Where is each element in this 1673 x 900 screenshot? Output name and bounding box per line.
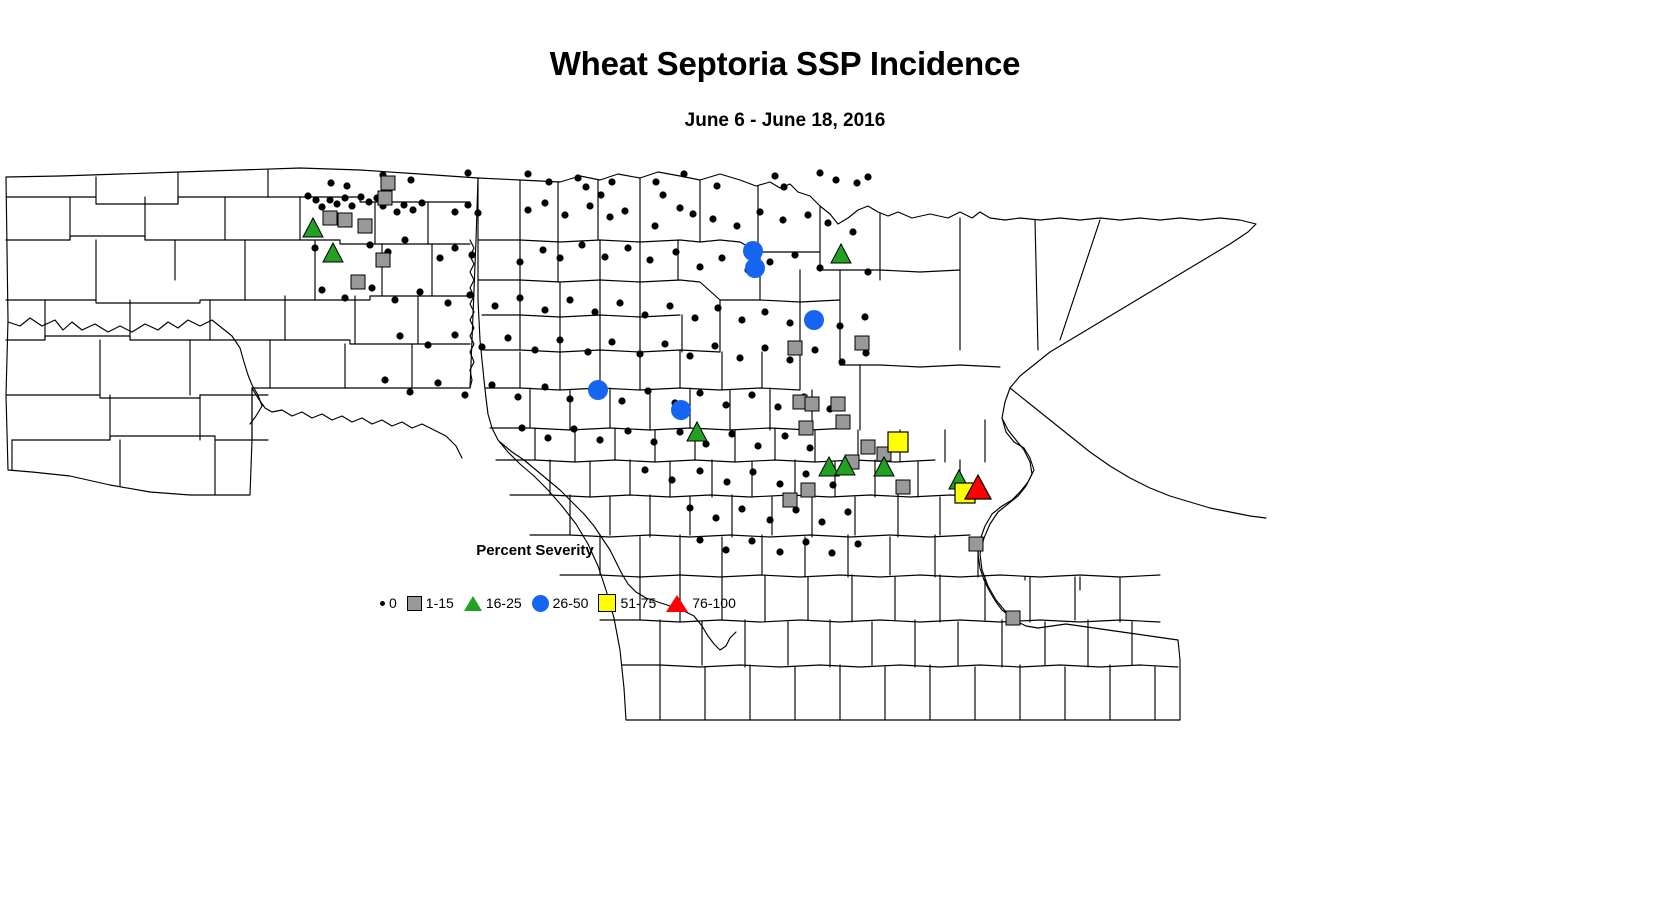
marker-sev-0 <box>818 518 825 525</box>
marker-sev-0 <box>624 427 631 434</box>
marker-sev-0 <box>504 334 511 341</box>
marker-sev-0 <box>849 228 856 235</box>
marker-sev-0 <box>424 341 431 348</box>
marker-sev-0 <box>488 381 495 388</box>
map-page: Wheat Septoria SSP Incidence June 6 - Ju… <box>0 0 1673 900</box>
marker-sev-0 <box>786 356 793 363</box>
legend-item-label: 76-100 <box>692 595 736 611</box>
marker-sev-0 <box>368 284 375 291</box>
marker-sev-0 <box>738 505 745 512</box>
marker-sev-51-75 <box>888 432 908 452</box>
marker-sev-0 <box>436 254 443 261</box>
mn-nline-12 <box>840 365 1000 367</box>
marker-sev-0 <box>853 179 860 186</box>
marker-sev-0 <box>566 296 573 303</box>
marker-sev-16-25 <box>323 243 343 262</box>
marker-sev-0 <box>416 288 423 295</box>
marker-sev-0 <box>516 258 523 265</box>
legend-dot-icon <box>380 601 385 606</box>
marker-sev-0 <box>318 286 325 293</box>
marker-sev-0 <box>464 201 471 208</box>
marker-sev-0 <box>680 170 687 177</box>
marker-sev-0 <box>636 350 643 357</box>
marker-sev-0 <box>327 179 334 186</box>
marker-sev-0 <box>478 343 485 350</box>
marker-sev-0 <box>686 352 693 359</box>
legend-item-label: 26-50 <box>553 595 589 611</box>
marker-sev-0 <box>524 170 531 177</box>
marker-sev-0 <box>624 244 631 251</box>
legend-item-label: 0 <box>389 595 397 611</box>
north-dakota-outline <box>6 168 478 495</box>
marker-sev-0 <box>597 191 604 198</box>
marker-sev-0 <box>365 198 372 205</box>
marker-sev-0 <box>318 203 325 210</box>
legend-item-26-50[interactable]: 26-50 <box>532 588 589 618</box>
marker-sev-0 <box>584 348 591 355</box>
marker-sev-0 <box>804 211 811 218</box>
marker-sev-0 <box>754 442 761 449</box>
marker-sev-0 <box>401 236 408 243</box>
marker-sev-1-15 <box>801 483 815 497</box>
marker-sev-0 <box>618 397 625 404</box>
marker-sev-26-50 <box>743 241 763 261</box>
marker-sev-1-15 <box>896 480 910 494</box>
marker-sev-1-15 <box>805 397 819 411</box>
marker-sev-0 <box>838 358 845 365</box>
mn-nline-8 <box>484 350 720 352</box>
mn-vline-10 <box>1035 220 1038 350</box>
marker-sev-0 <box>596 436 603 443</box>
marker-sev-0 <box>400 201 407 208</box>
mn-nline-11 <box>490 428 850 430</box>
marker-sev-0 <box>616 299 623 306</box>
legend-items: 01-1516-2526-5051-7576-100 <box>370 588 770 618</box>
page-subtitle: June 6 - June 18, 2016 <box>0 110 1570 132</box>
marker-sev-0 <box>516 294 523 301</box>
marker-sev-0 <box>641 466 648 473</box>
legend-item-1-15[interactable]: 1-15 <box>407 588 454 618</box>
marker-sev-0 <box>556 254 563 261</box>
marker-sev-1-15 <box>338 213 352 227</box>
marker-sev-1-15 <box>783 493 797 507</box>
marker-sev-0 <box>304 192 311 199</box>
map-container <box>0 140 1330 740</box>
marker-sev-0 <box>348 202 355 209</box>
marker-sev-0 <box>816 264 823 271</box>
marker-sev-0 <box>806 444 813 451</box>
marker-sev-0 <box>545 178 552 185</box>
mn-nline-9 <box>700 282 840 302</box>
marker-sev-0 <box>728 430 735 437</box>
legend-gray-square-icon <box>407 596 422 611</box>
marker-sev-0 <box>781 432 788 439</box>
marker-sev-1-15 <box>855 336 869 350</box>
marker-sev-0 <box>608 338 615 345</box>
marker-sev-0 <box>514 393 521 400</box>
marker-sev-16-25 <box>831 244 851 263</box>
marker-sev-0 <box>312 196 319 203</box>
marker-sev-0 <box>761 308 768 315</box>
mn-nline-5 <box>478 280 600 282</box>
marker-sev-0 <box>464 169 471 176</box>
marker-sev-0 <box>391 296 398 303</box>
marker-sev-0 <box>418 199 425 206</box>
marker-sev-0 <box>779 216 786 223</box>
marker-sev-0 <box>736 354 743 361</box>
marker-sev-0 <box>829 481 836 488</box>
marker-sev-0 <box>713 182 720 189</box>
marker-sev-0 <box>357 193 364 200</box>
marker-sev-26-50 <box>588 380 608 400</box>
marker-sev-1-15 <box>323 211 337 225</box>
marker-sev-0 <box>666 302 673 309</box>
marker-sev-0 <box>466 291 473 298</box>
mn-vline-11 <box>1060 220 1100 340</box>
page-title: Wheat Septoria SSP Incidence <box>0 45 1570 83</box>
marker-sev-0 <box>776 548 783 555</box>
marker-sev-0 <box>444 299 451 306</box>
marker-sev-0 <box>696 389 703 396</box>
marker-sev-0 <box>531 346 538 353</box>
marker-sev-0 <box>676 428 683 435</box>
marker-sev-0 <box>586 202 593 209</box>
marker-sev-0 <box>861 313 868 320</box>
marker-sev-1-15 <box>969 537 983 551</box>
mn-nline-4 <box>820 270 960 272</box>
marker-sev-0 <box>646 256 653 263</box>
marker-sev-0 <box>341 194 348 201</box>
legend-item-0[interactable]: 0 <box>370 588 397 618</box>
legend-item-label: 51-75 <box>620 595 656 611</box>
marker-sev-0 <box>659 191 666 198</box>
marker-sev-1-15 <box>358 219 372 233</box>
legend-item-51-75[interactable]: 51-75 <box>598 588 656 618</box>
marker-sev-26-50 <box>671 400 691 420</box>
marker-sev-0 <box>771 172 778 179</box>
marker-sev-1-15 <box>799 421 813 435</box>
legend-blue-circle-icon <box>532 595 549 612</box>
nd-tier-line-4b <box>268 340 470 344</box>
legend-item-76-100[interactable]: 76-100 <box>666 588 736 618</box>
marker-sev-0 <box>582 183 589 190</box>
marker-sev-0 <box>672 248 679 255</box>
legend-item-label: 1-15 <box>426 595 454 611</box>
marker-sev-0 <box>343 182 350 189</box>
legend-green-triangle-icon <box>464 596 482 611</box>
mn-nline-10 <box>486 388 800 390</box>
marker-sev-0 <box>766 516 773 523</box>
marker-sev-0 <box>774 403 781 410</box>
marker-sev-0 <box>816 169 823 176</box>
marker-sev-0 <box>714 304 721 311</box>
marker-sev-0 <box>709 215 716 222</box>
marker-sev-0 <box>756 208 763 215</box>
marker-sev-0 <box>689 210 696 217</box>
mn-nline-1 <box>478 240 640 242</box>
nd-tier-line-5 <box>6 395 268 398</box>
marker-sev-0 <box>570 425 577 432</box>
marker-sev-16-25 <box>303 218 323 237</box>
marker-sev-0 <box>811 346 818 353</box>
mn-nline-6 <box>600 280 700 282</box>
marker-sev-0 <box>738 316 745 323</box>
marker-sev-0 <box>591 308 598 315</box>
marker-sev-0 <box>333 200 340 207</box>
marker-sev-0 <box>341 294 348 301</box>
nd-tier-line-2 <box>6 236 268 240</box>
marker-sev-0 <box>491 302 498 309</box>
mn-nline-2 <box>640 240 740 242</box>
marker-sev-26-50 <box>804 310 824 330</box>
county-boundaries <box>6 168 1266 720</box>
marker-sev-0 <box>828 549 835 556</box>
marker-sev-0 <box>722 401 729 408</box>
marker-sev-1-15 <box>788 341 802 355</box>
marker-sev-0 <box>541 306 548 313</box>
marker-sev-1-15 <box>376 253 390 267</box>
legend-item-16-25[interactable]: 16-25 <box>464 588 522 618</box>
marker-sev-0 <box>696 263 703 270</box>
legend-item-label: 16-25 <box>486 595 522 611</box>
marker-sev-0 <box>854 540 861 547</box>
marker-sev-0 <box>407 176 414 183</box>
nd-tier-line-6 <box>12 436 268 440</box>
marker-sev-0 <box>836 322 843 329</box>
marker-sev-0 <box>718 254 725 261</box>
marker-sev-0 <box>686 504 693 511</box>
marker-sev-0 <box>524 206 531 213</box>
marker-sev-0 <box>668 476 675 483</box>
marker-sev-0 <box>661 340 668 347</box>
marker-sev-0 <box>844 508 851 515</box>
marker-sev-0 <box>652 178 659 185</box>
marker-sev-0 <box>608 178 615 185</box>
marker-sev-0 <box>749 468 756 475</box>
marker-sev-0 <box>780 183 787 190</box>
marker-sev-1-15 <box>861 440 875 454</box>
marker-sev-0 <box>786 319 793 326</box>
marker-sev-0 <box>711 342 718 349</box>
marker-sev-0 <box>691 314 698 321</box>
lake-sakakawea <box>8 318 262 424</box>
nd-tier-line-3b <box>268 296 470 300</box>
marker-sev-1-15 <box>381 176 395 190</box>
marker-sev-0 <box>556 336 563 343</box>
lake-superior-shore <box>1010 388 1266 518</box>
marker-sev-1-15 <box>831 397 845 411</box>
map-legend: Percent Severity 01-1516-2526-5051-7576-… <box>370 530 770 630</box>
marker-sev-0 <box>451 208 458 215</box>
marker-sev-0 <box>451 331 458 338</box>
marker-sev-0 <box>791 251 798 258</box>
marker-sev-0 <box>650 438 657 445</box>
marker-sev-0 <box>766 258 773 265</box>
missouri-river-south <box>252 388 462 458</box>
marker-sev-0 <box>461 391 468 398</box>
marker-sev-0 <box>776 480 783 487</box>
marker-sev-0 <box>864 268 871 275</box>
marker-sev-0 <box>326 196 333 203</box>
marker-sev-0 <box>748 391 755 398</box>
marker-sev-0 <box>601 253 608 260</box>
marker-sev-0 <box>406 388 413 395</box>
marker-sev-0 <box>574 174 581 181</box>
marker-sev-0 <box>434 379 441 386</box>
marker-sev-0 <box>561 211 568 218</box>
nd-tier-line-1 <box>6 197 268 204</box>
state-county-map <box>0 140 1330 740</box>
mn-nline-13 <box>496 460 935 462</box>
marker-sev-0 <box>824 219 831 226</box>
legend-red-triangle-icon <box>666 595 688 612</box>
marker-sev-0 <box>474 209 481 216</box>
marker-sev-0 <box>518 424 525 431</box>
marker-sev-0 <box>802 538 809 545</box>
marker-sev-0 <box>832 176 839 183</box>
marker-sev-0 <box>606 213 613 220</box>
marker-sev-0 <box>723 478 730 485</box>
marker-sev-0 <box>641 311 648 318</box>
marker-sev-0 <box>311 244 318 251</box>
marker-sev-1-15 <box>836 415 850 429</box>
mn-nline-7 <box>482 315 680 317</box>
marker-sev-0 <box>676 204 683 211</box>
marker-sev-0 <box>541 383 548 390</box>
marker-sev-0 <box>539 246 546 253</box>
marker-sev-0 <box>578 241 585 248</box>
legend-title: Percent Severity <box>370 542 700 559</box>
marker-sev-0 <box>396 332 403 339</box>
marker-sev-0 <box>644 387 651 394</box>
marker-sev-0 <box>733 222 740 229</box>
marker-sev-0 <box>864 173 871 180</box>
marker-sev-0 <box>544 434 551 441</box>
marker-sev-0 <box>451 244 458 251</box>
marker-sev-0 <box>541 199 548 206</box>
marker-sev-0 <box>651 222 658 229</box>
marker-sev-1-15 <box>1006 611 1020 625</box>
marker-sev-0 <box>409 206 416 213</box>
marker-sev-0 <box>381 376 388 383</box>
marker-sev-0 <box>566 395 573 402</box>
marker-sev-26-50 <box>745 258 765 278</box>
marker-sev-0 <box>761 344 768 351</box>
marker-sev-0 <box>393 208 400 215</box>
marker-sev-0 <box>366 241 373 248</box>
legend-yellow-square-icon <box>598 594 616 612</box>
marker-sev-0 <box>621 207 628 214</box>
marker-sev-1-15 <box>351 275 365 289</box>
marker-sev-0 <box>468 251 475 258</box>
marker-sev-0 <box>802 470 809 477</box>
marker-sev-1-15 <box>378 191 392 205</box>
marker-sev-0 <box>712 514 719 521</box>
marker-sev-0 <box>696 467 703 474</box>
